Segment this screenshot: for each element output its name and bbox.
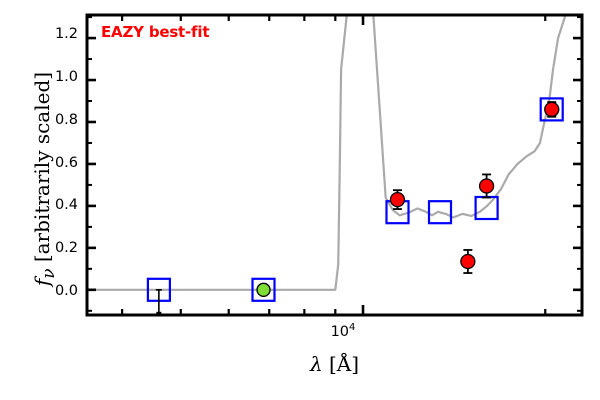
y-tick-label: 1.2 (34, 26, 78, 42)
y-tick-label: 1.0 (34, 69, 78, 85)
y-tick-label: 0.6 (34, 155, 78, 171)
x-tick-exponent: 4 (349, 322, 355, 333)
eazy-best-fit-annotation: EAZY best-fit (101, 23, 209, 41)
y-tick-label: 0.4 (34, 197, 78, 213)
chart-plot-area (0, 0, 600, 400)
y-tick-label: 0.8 (34, 112, 78, 128)
x-axis-lambda-symbol: λ (310, 352, 323, 376)
observed-photometry-point (461, 255, 475, 269)
observed-photometry-point (480, 179, 494, 193)
observed-photometry-point (545, 102, 559, 116)
x-axis-label: λ [Å] (86, 352, 583, 376)
x-tick-label-10e4: 104 (313, 322, 373, 340)
y-tick-label: 0.0 (34, 283, 78, 299)
x-axis-unit: [Å] (329, 352, 359, 376)
x-tick-mantissa: 10 (331, 324, 349, 340)
observed-photometry-point (390, 193, 404, 207)
figure-canvas: 1.2 1.0 0.8 0.6 0.4 0.2 0.0 104 λ [Å] fν… (0, 0, 600, 400)
upper-limit-green-point (257, 283, 270, 296)
y-tick-label: 0.2 (34, 240, 78, 256)
plot-background (87, 15, 582, 315)
